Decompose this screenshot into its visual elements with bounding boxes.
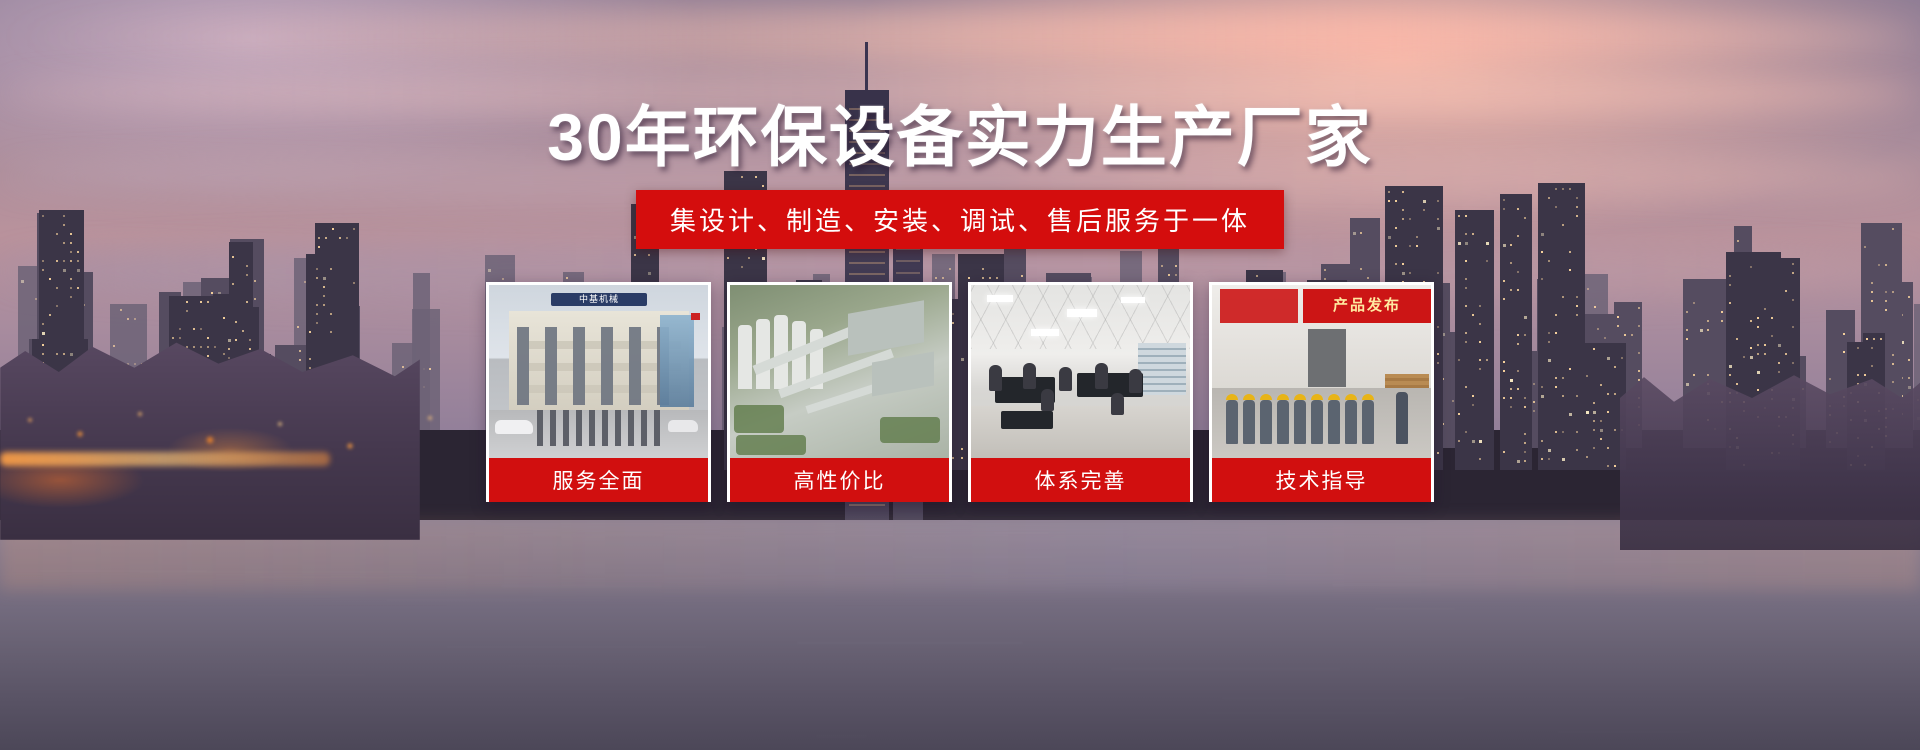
person-shape xyxy=(989,365,1002,391)
worker-shape xyxy=(1243,400,1255,444)
company-sign-label: 中基机械 xyxy=(551,293,647,306)
card-caption: 技术指导 xyxy=(1212,458,1431,502)
glass-facade-shape xyxy=(660,315,694,407)
card-thumbnail-plant-aerial xyxy=(730,285,949,458)
hard-hat-icon xyxy=(1345,394,1357,400)
person-shape xyxy=(1041,389,1054,411)
ceiling-lamp-icon xyxy=(1121,297,1145,303)
worker-shape xyxy=(1345,400,1357,444)
feature-card[interactable]: 高性价比 xyxy=(727,282,952,502)
person-shape xyxy=(1023,363,1036,389)
person-shape xyxy=(1095,363,1108,389)
feature-card[interactable]: 产品发布 技术指导 xyxy=(1209,282,1434,502)
hard-hat-icon xyxy=(1311,394,1323,400)
worker-shape xyxy=(1362,400,1374,444)
worker-shape xyxy=(1311,400,1323,444)
ceiling-lamp-icon xyxy=(987,295,1013,302)
hard-hat-icon xyxy=(1226,394,1238,400)
vegetation-shape xyxy=(736,435,806,455)
card-thumbnail-office-building: 中基机械 xyxy=(489,285,708,458)
banner-headline: 30年环保设备实力生产厂家 xyxy=(0,104,1920,170)
window-shape xyxy=(1138,343,1186,395)
banner-content: 30年环保设备实力生产厂家 集设计、制造、安装、调试、售后服务于一体 中基机械 … xyxy=(0,0,1920,750)
worker-shape xyxy=(1294,400,1306,444)
product-launch-banner: 产品发布 xyxy=(1303,289,1431,323)
vegetation-shape xyxy=(880,417,940,443)
hard-hat-icon xyxy=(1362,394,1374,400)
feature-card-list: 中基机械 服务全面 高性价比 xyxy=(486,282,1434,502)
card-thumbnail-workshop: 产品发布 xyxy=(1212,285,1431,458)
silo-shape xyxy=(756,319,770,389)
worker-shape xyxy=(1260,400,1272,444)
car-shape xyxy=(668,420,698,432)
silo-shape xyxy=(738,325,752,389)
supervisor-shape xyxy=(1396,392,1408,444)
roof-shape xyxy=(848,300,924,355)
feature-card[interactable]: 中基机械 服务全面 xyxy=(486,282,711,502)
staff-row-shape xyxy=(537,410,667,446)
hard-hat-icon xyxy=(1277,394,1289,400)
person-shape xyxy=(1111,393,1124,415)
hero-banner: 30年环保设备实力生产厂家 集设计、制造、安装、调试、售后服务于一体 中基机械 … xyxy=(0,0,1920,750)
vegetation-shape xyxy=(734,405,784,433)
car-shape xyxy=(495,420,533,434)
hard-hat-icon xyxy=(1328,394,1340,400)
worker-shape xyxy=(1226,400,1238,444)
feature-card[interactable]: 体系完善 xyxy=(968,282,1193,502)
ceiling-lamp-icon xyxy=(1067,309,1097,317)
wall-slogan-strip xyxy=(1220,289,1298,323)
banner-subtitle-bar: 集设计、制造、安装、调试、售后服务于一体 xyxy=(636,190,1284,249)
worker-shape xyxy=(1328,400,1340,444)
desk-shape xyxy=(1001,411,1053,429)
hard-hat-icon xyxy=(1260,394,1272,400)
door-shape xyxy=(1308,329,1346,387)
person-shape xyxy=(1059,367,1072,391)
flag-icon xyxy=(691,313,700,320)
card-thumbnail-office-interior xyxy=(971,285,1190,458)
person-shape xyxy=(1129,369,1142,393)
worker-shape xyxy=(1277,400,1289,444)
card-caption: 体系完善 xyxy=(971,458,1190,502)
ceiling-lamp-icon xyxy=(1031,329,1059,336)
hard-hat-icon xyxy=(1294,394,1306,400)
hard-hat-icon xyxy=(1243,394,1255,400)
card-caption: 服务全面 xyxy=(489,458,708,502)
card-caption: 高性价比 xyxy=(730,458,949,502)
